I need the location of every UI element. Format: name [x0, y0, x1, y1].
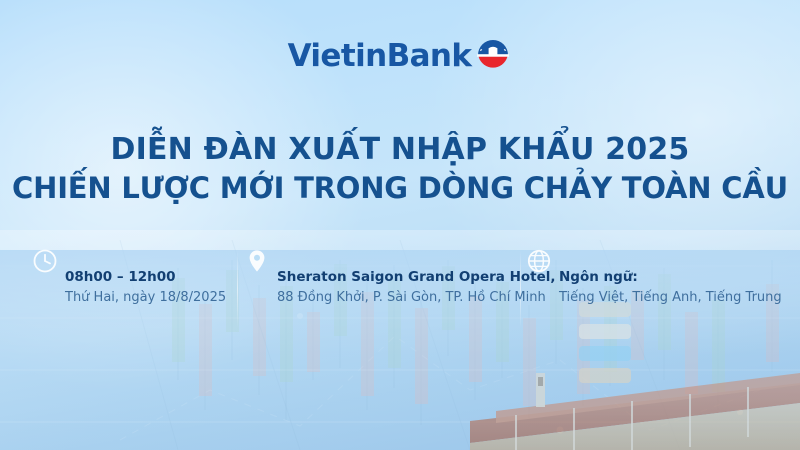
event-banner: VietinBank: [0, 0, 800, 450]
event-info-row: 08h00 – 12h00 Thứ Hai, ngày 18/8/2025 Sh…: [30, 244, 784, 307]
info-block-time: 08h00 – 12h00 Thứ Hai, ngày 18/8/2025: [30, 244, 242, 307]
place-title: Sheraton Saigon Grand Opera Hotel,: [277, 268, 556, 286]
banner-content: VietinBank: [0, 0, 800, 450]
brand-logo: VietinBank: [0, 38, 800, 74]
language-subtitle: Tiếng Việt, Tiếng Anh, Tiếng Trung: [559, 288, 782, 307]
language-title: Ngôn ngữ:: [559, 268, 782, 286]
globe-icon: [524, 246, 554, 276]
info-block-language: Ngôn ngữ: Tiếng Việt, Tiếng Anh, Tiếng T…: [524, 244, 784, 307]
place-subtitle: 88 Đồng Khởi, P. Sài Gòn, TP. Hồ Chí Min…: [277, 288, 556, 307]
time-title: 08h00 – 12h00: [65, 268, 226, 286]
clock-icon: [30, 246, 60, 276]
map-pin-icon: [242, 246, 272, 276]
headline-line-1: DIỄN ĐÀN XUẤT NHẬP KHẨU 2025: [0, 131, 800, 169]
brand-name: VietinBank: [288, 41, 472, 72]
page-title: DIỄN ĐÀN XUẤT NHẬP KHẨU 2025 CHIẾN LƯỢC …: [0, 131, 800, 207]
vietinbank-dome-logo-icon: [474, 36, 512, 74]
time-subtitle: Thứ Hai, ngày 18/8/2025: [65, 288, 226, 307]
info-block-place: Sheraton Saigon Grand Opera Hotel, 88 Đồ…: [242, 244, 524, 307]
headline-line-2: CHIẾN LƯỢC MỚI TRONG DÒNG CHẢY TOÀN CẦU: [0, 169, 800, 207]
